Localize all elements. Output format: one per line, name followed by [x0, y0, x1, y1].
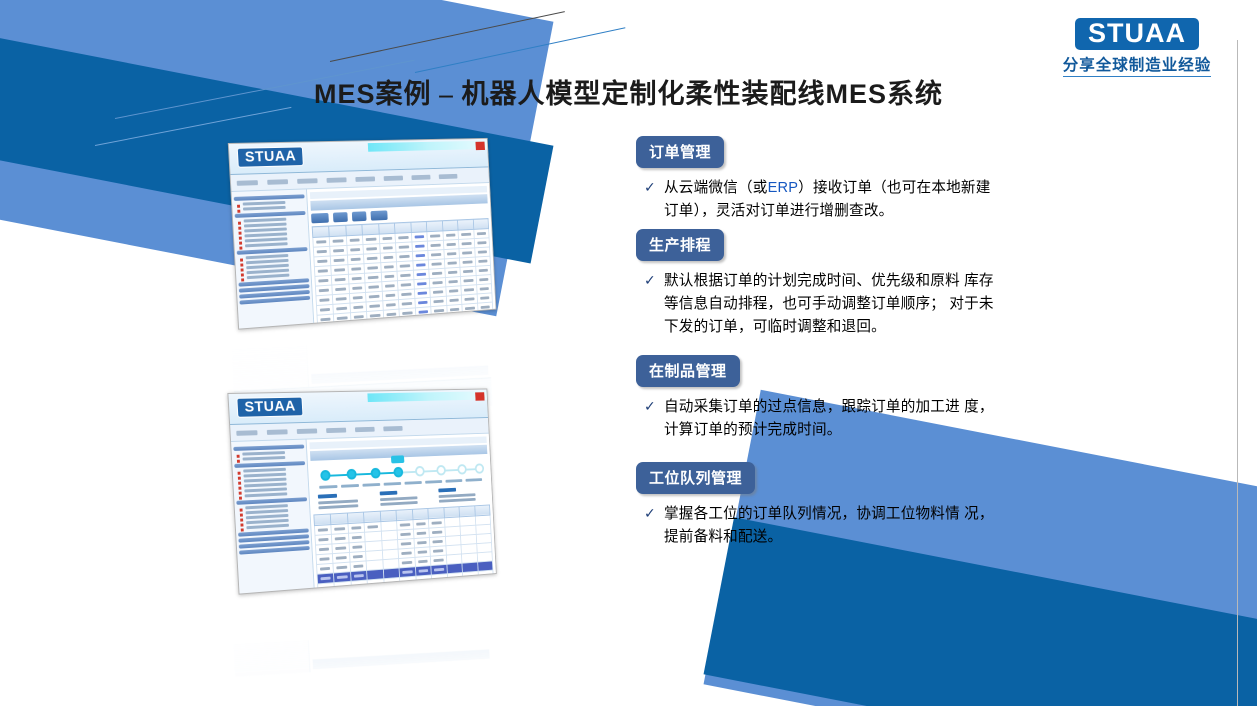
badge-wip-management[interactable]: 在制品管理 — [636, 355, 740, 387]
feature-wip-management: 在制品管理 ✓ 自动采集订单的过点信息，跟踪订单的加工进 度，计算订单的预计完成… — [636, 355, 996, 442]
flow-current-tooltip — [391, 455, 404, 463]
flow-step-label — [362, 483, 380, 487]
cell — [318, 582, 335, 588]
slide-canvas: STUAA 分享全球制造业经验 MES案例 – 机器人模型定制化柔性装配线MES… — [0, 0, 1257, 706]
check-icon: ✓ — [644, 177, 664, 223]
flow-node-completed[interactable] — [370, 468, 380, 479]
flow-node-completed[interactable] — [320, 470, 331, 481]
menu-item[interactable] — [267, 179, 288, 185]
menu-item[interactable] — [439, 173, 458, 178]
cell — [462, 312, 478, 322]
app-sidebar[interactable] — [231, 440, 315, 595]
cell — [431, 315, 447, 324]
menu-item[interactable] — [355, 176, 375, 181]
cell — [416, 584, 432, 589]
bullet-text: 默认根据订单的计划完成时间、优先级和原料 库存等信息自动排程，也可手动调整订单顺… — [664, 270, 996, 339]
title-part-1: MES — [314, 79, 376, 109]
cell — [400, 317, 416, 323]
cell — [384, 586, 401, 588]
flow-step-label — [319, 485, 337, 489]
flow-step-label — [341, 484, 359, 488]
page-title: MES案例 – 机器人模型定制化柔性装配线MES系统 — [0, 72, 1257, 111]
bullet-text-highlight: ERP — [768, 180, 799, 196]
menu-item[interactable] — [297, 428, 318, 433]
feature-order-management: 订单管理 ✓ 从云端微信（或ERP）接收订单（也可在本地新建订单），灵活对订单进… — [636, 136, 996, 223]
close-icon[interactable] — [475, 392, 484, 400]
badge-production-scheduling[interactable]: 生产排程 — [636, 229, 724, 261]
app-logo: STUAA — [236, 397, 303, 418]
app-main-panel — [307, 183, 496, 324]
decor-vertical-rule — [1237, 40, 1238, 706]
info-column — [439, 486, 485, 505]
menu-item[interactable] — [236, 430, 257, 436]
flow-node-completed[interactable] — [346, 469, 356, 480]
brand-logo: STUAA 分享全球制造业经验 — [1047, 18, 1227, 77]
menu-item[interactable] — [237, 180, 258, 186]
flow-step-label — [465, 478, 482, 482]
feature-station-queue-management: 工位队列管理 ✓ 掌握各工位的订单队列情况，协调工位物料情 况，提前备料和配送。 — [636, 462, 996, 549]
bullet-text: 自动采集订单的过点信息，跟踪订单的加工进 度，计算订单的预计完成时间。 — [664, 396, 996, 442]
title-part-3: MES — [826, 79, 888, 109]
close-icon[interactable] — [475, 142, 484, 151]
menu-item[interactable] — [267, 429, 288, 435]
toolbar-button[interactable] — [352, 211, 367, 221]
toolbar-button[interactable] — [371, 210, 388, 220]
title-part-2: 案例 – 机器人模型定制化柔性装配线 — [376, 79, 826, 109]
bullet-production-scheduling: ✓ 默认根据订单的计划完成时间、优先级和原料 库存等信息自动排程，也可手动调整订… — [644, 270, 996, 339]
check-icon: ✓ — [644, 270, 664, 339]
bullet-wip-management: ✓ 自动采集订单的过点信息，跟踪订单的加工进 度，计算订单的预计完成时间。 — [644, 396, 996, 442]
cell — [367, 578, 384, 588]
cell — [462, 571, 478, 581]
orders-table[interactable] — [312, 218, 495, 324]
cell — [368, 588, 385, 589]
cell — [432, 583, 448, 589]
app-logo: STUAA — [237, 146, 304, 167]
menu-item[interactable] — [326, 427, 346, 432]
check-icon: ✓ — [644, 396, 664, 442]
wip-table[interactable] — [313, 504, 496, 589]
cell — [334, 322, 351, 323]
menu-item[interactable] — [326, 177, 346, 182]
feature-production-scheduling: 生产排程 ✓ 默认根据订单的计划完成时间、优先级和原料 库存等信息自动排程，也可… — [636, 229, 996, 339]
cell — [416, 316, 432, 324]
flow-node-current[interactable] — [394, 467, 404, 478]
cell — [334, 581, 351, 589]
cell — [448, 581, 464, 588]
decor-line-blue-lowest — [95, 107, 292, 146]
titlebar-cyan-strip — [367, 391, 487, 402]
toolbar-button[interactable] — [333, 212, 348, 222]
flow-node-pending[interactable] — [475, 463, 485, 474]
app-sidebar[interactable] — [231, 189, 314, 329]
flow-node-pending[interactable] — [436, 465, 446, 476]
bullet-order-management: ✓ 从云端微信（或ERP）接收订单（也可在本地新建订单），灵活对订单进行增删查改… — [644, 177, 996, 223]
titlebar-cyan-strip — [368, 141, 488, 152]
cell — [447, 572, 463, 583]
feature-list: 订单管理 ✓ 从云端微信（或ERP）接收订单（也可在本地新建订单），灵活对订单进… — [636, 136, 996, 555]
badge-station-queue-management[interactable]: 工位队列管理 — [636, 462, 755, 494]
cell — [416, 574, 432, 585]
badge-order-management[interactable]: 订单管理 — [636, 136, 724, 168]
brand-wordmark: STUAA — [1075, 18, 1199, 50]
cell — [384, 319, 401, 324]
flow-step-label — [445, 479, 462, 483]
menu-item[interactable] — [384, 175, 403, 180]
flow-node-pending[interactable] — [457, 464, 467, 475]
cell — [351, 580, 368, 589]
menu-item[interactable] — [297, 178, 318, 184]
cell — [447, 314, 463, 324]
flow-node-pending[interactable] — [415, 466, 425, 477]
decor-line-dark — [330, 11, 565, 62]
info-column — [379, 489, 427, 508]
menu-item[interactable] — [383, 426, 402, 431]
menu-item[interactable] — [411, 174, 430, 179]
cell — [478, 311, 494, 321]
flow-step-label — [404, 481, 421, 485]
flow-rail-progress — [322, 472, 401, 477]
bullet-text: 掌握各工位的订单队列情况，协调工位物料情 况，提前备料和配送。 — [664, 503, 996, 549]
app-main-panel — [307, 434, 496, 589]
bullet-text: 从云端微信（或ERP）接收订单（也可在本地新建订单），灵活对订单进行增删查改。 — [664, 177, 996, 223]
decor-line-blue — [415, 27, 626, 73]
cell — [400, 585, 416, 588]
flow-step-label — [384, 482, 402, 486]
bullet-station-queue-management: ✓ 掌握各工位的订单队列情况，协调工位物料情 况，提前备料和配送。 — [644, 503, 996, 549]
cell — [431, 573, 447, 584]
cell — [367, 320, 384, 324]
screenshot-wip-tracking[interactable]: STUAA — [233, 393, 525, 595]
cell — [478, 570, 494, 580]
toolbar-button[interactable] — [311, 213, 329, 223]
cell — [400, 576, 416, 587]
menu-item[interactable] — [355, 426, 375, 431]
check-icon: ✓ — [644, 503, 664, 549]
title-part-4: 系统 — [887, 79, 943, 109]
cell — [384, 577, 401, 588]
bullet-text-prefix: 从云端微信（或 — [664, 180, 768, 196]
screenshot-wip-tracking-reflection — [233, 597, 523, 677]
screenshot-order-management[interactable]: STUAA — [233, 143, 525, 330]
info-column — [318, 492, 368, 511]
flow-step-label — [425, 480, 442, 484]
cell — [351, 321, 368, 324]
